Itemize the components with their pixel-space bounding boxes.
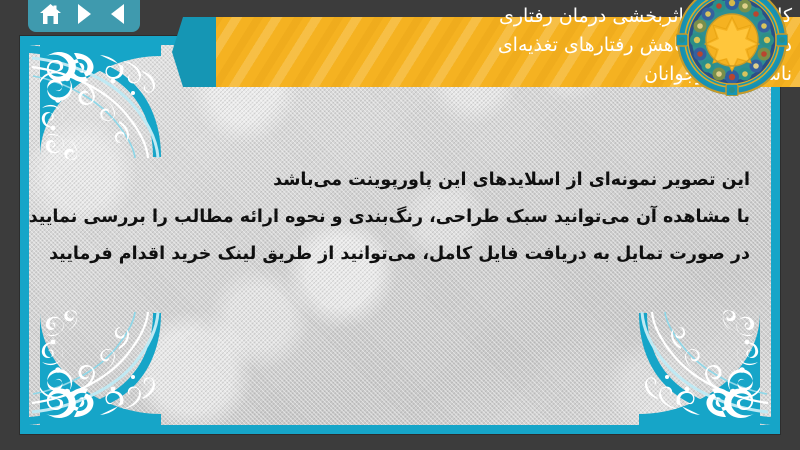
- next-slide-button[interactable]: [71, 1, 97, 27]
- body-line: این تصویر نمونه‌ای از اسلایدهای این پاور…: [50, 162, 750, 199]
- home-icon: [39, 3, 62, 25]
- triangle-right-icon: [74, 3, 94, 25]
- body-line: در صورت تمایل به دریافت فایل کامل، می‌تو…: [50, 236, 750, 273]
- persian-medallion-ornament-icon: [676, 0, 788, 96]
- previous-slide-button[interactable]: [105, 1, 131, 27]
- slide-navigation-bar: [28, 0, 140, 32]
- slide-root: این تصویر نمونه‌ای از اسلایدهای این پاور…: [0, 0, 800, 450]
- triangle-left-icon: [108, 3, 128, 25]
- home-button[interactable]: [37, 1, 63, 27]
- body-line: با مشاهده آن می‌توانید سبک طراحی، رنگ‌بن…: [50, 199, 750, 236]
- slide-body-text: این تصویر نمونه‌ای از اسلایدهای این پاور…: [50, 162, 750, 273]
